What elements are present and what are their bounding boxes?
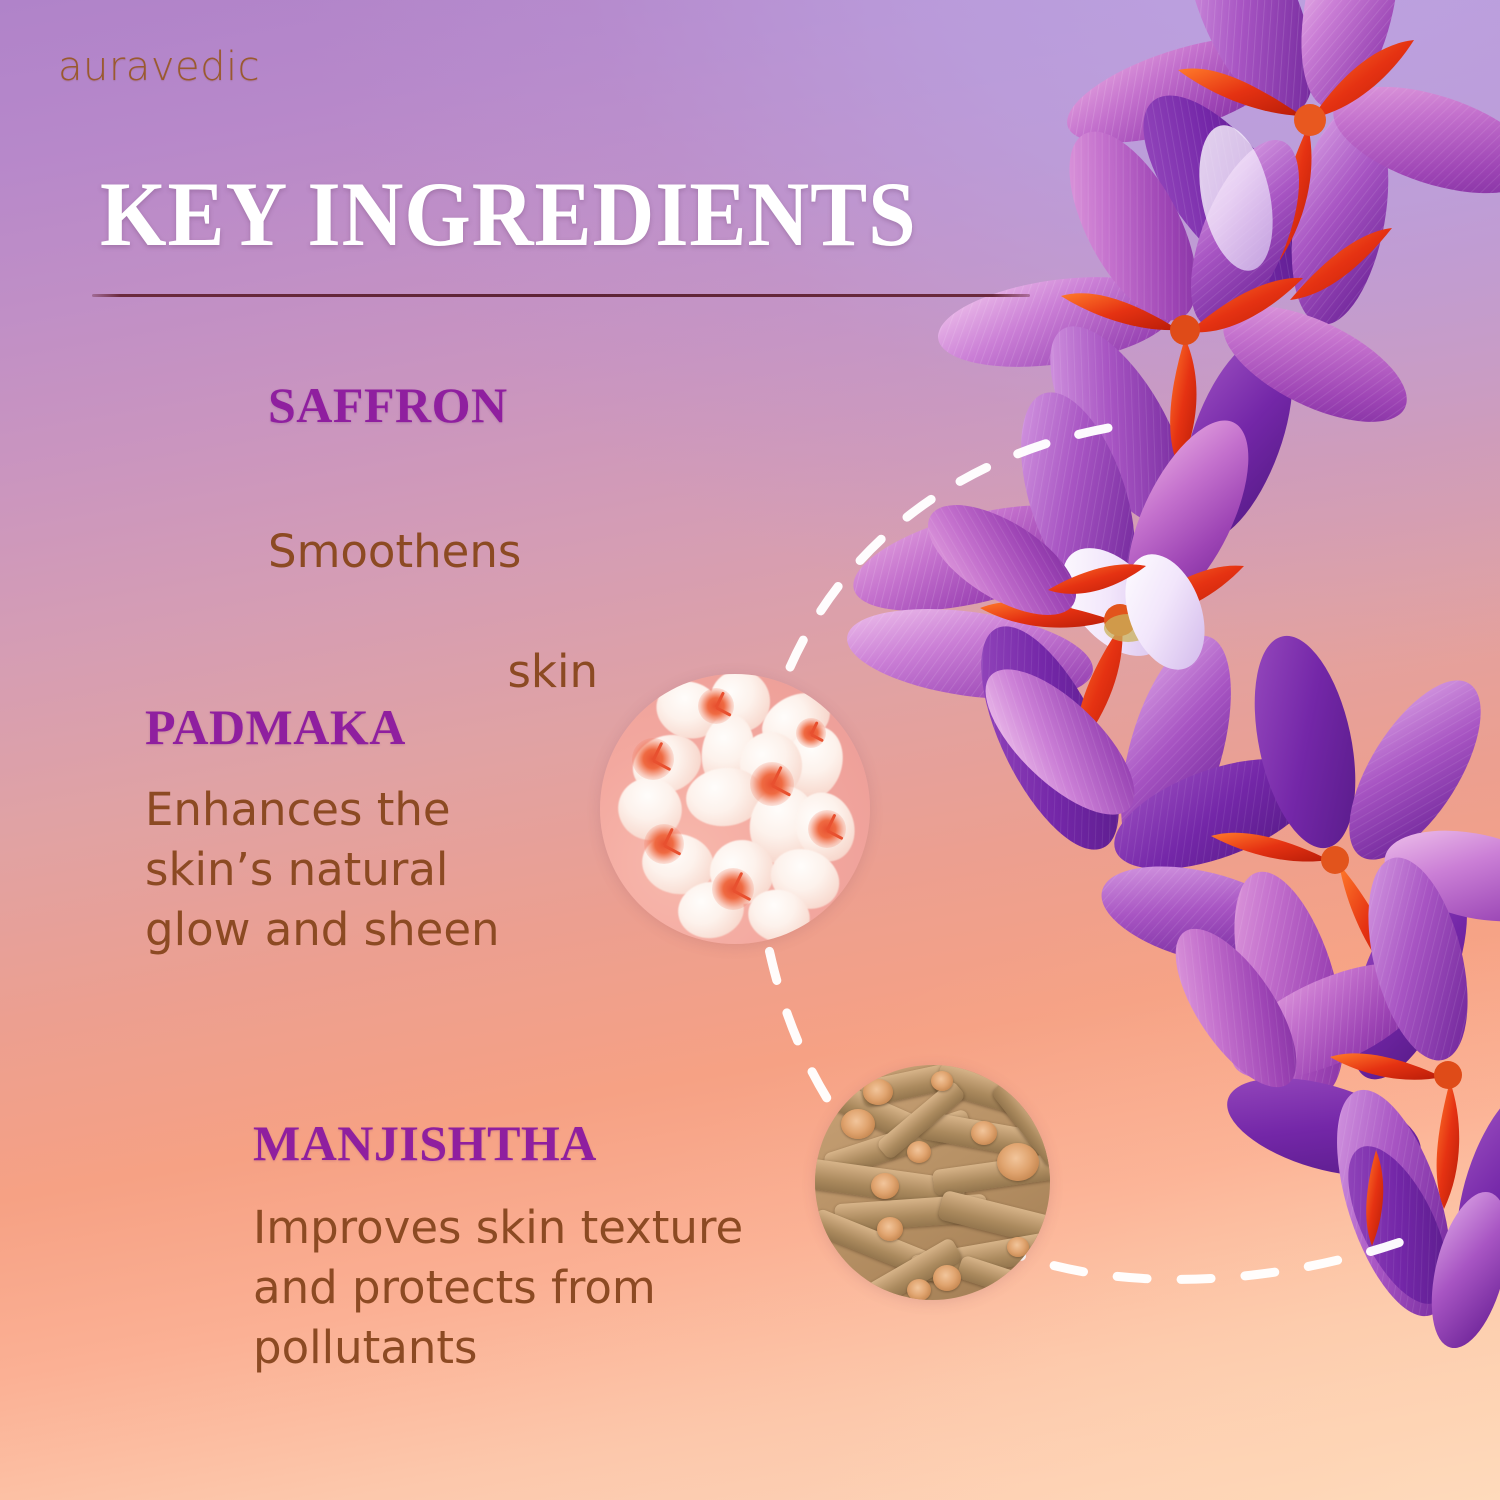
page-title: KEY INGREDIENTS bbox=[100, 168, 917, 260]
padmaka-blossoms-photo bbox=[600, 674, 870, 944]
ingredient-heading-manjishtha: MANJISHTHA bbox=[253, 1118, 597, 1168]
manjishtha-photo-background bbox=[815, 1065, 1050, 1300]
key-ingredients-infographic: auravedic KEY INGREDIENTS SAFFRON Smooth… bbox=[0, 0, 1500, 1500]
saffron-description-line-1: Smoothens bbox=[268, 522, 598, 582]
ingredient-heading-padmaka: PADMAKA bbox=[145, 702, 406, 752]
manjishtha-roots-photo bbox=[815, 1065, 1050, 1300]
ingredient-description-manjishtha: Improves skin texture and protects from … bbox=[253, 1198, 743, 1378]
ingredient-description-padmaka: Enhances the skin’s natural glow and she… bbox=[145, 780, 500, 960]
title-divider-rule bbox=[92, 294, 1030, 297]
ingredient-heading-saffron: SAFFRON bbox=[268, 380, 508, 430]
saffron-description-line-2: skin bbox=[268, 642, 598, 702]
brand-logo: auravedic bbox=[58, 44, 260, 90]
padmaka-photo-background bbox=[600, 674, 870, 944]
